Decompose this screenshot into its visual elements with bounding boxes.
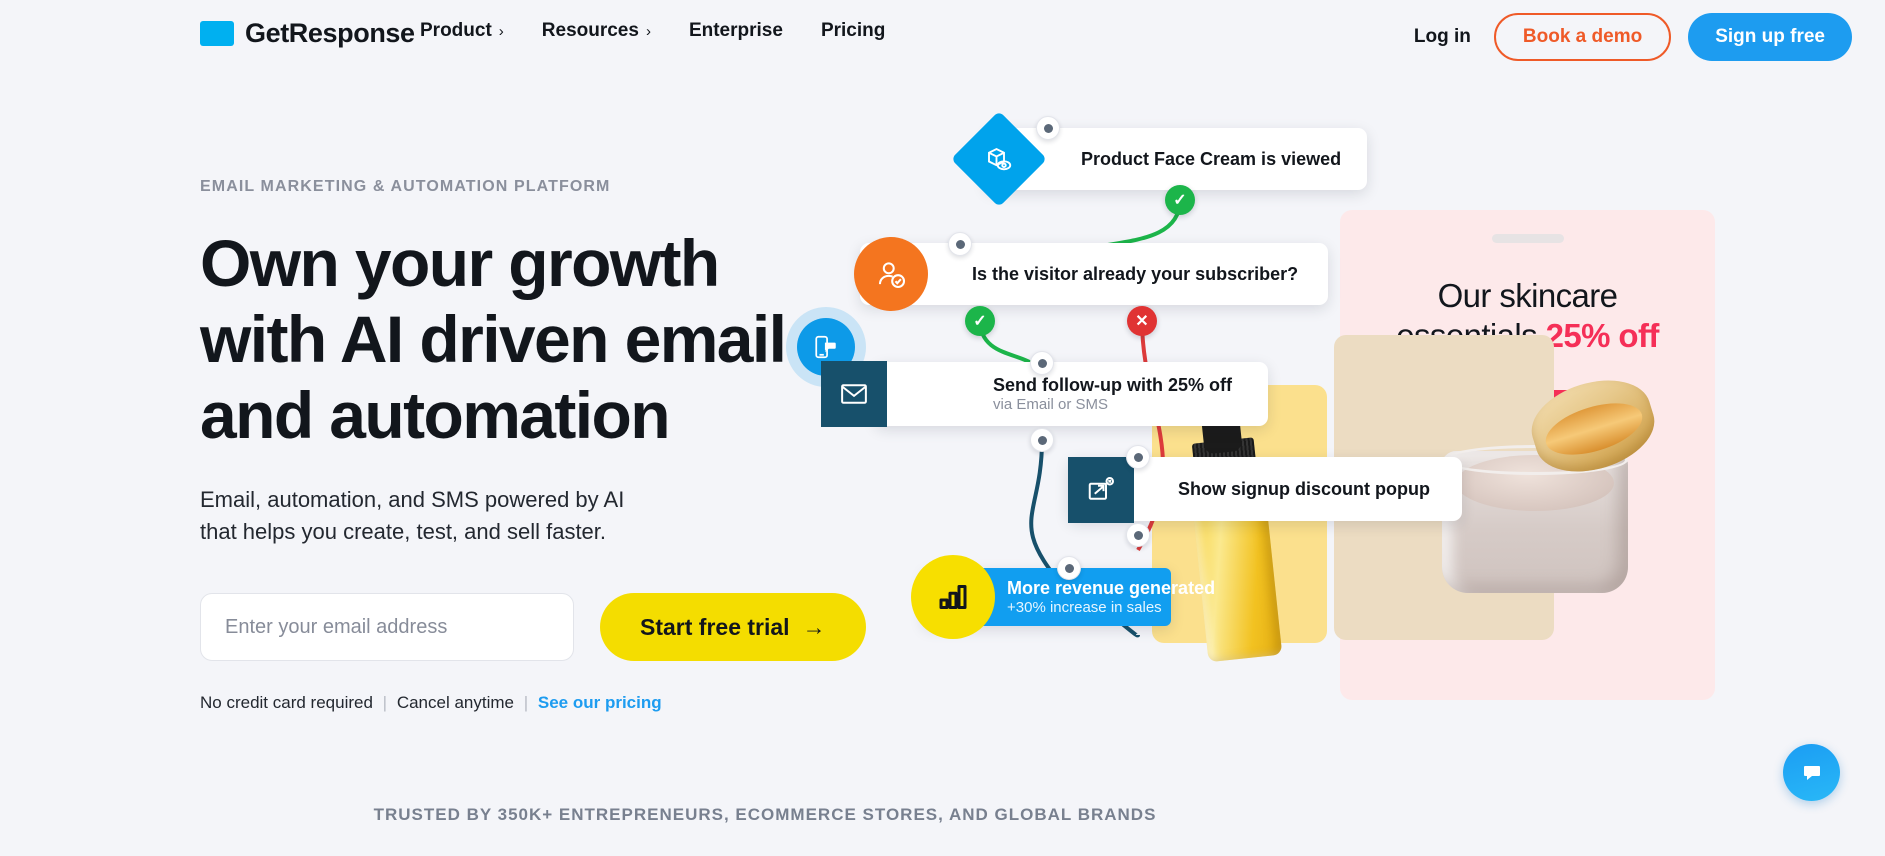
connector-dot-node3-top[interactable] [1030,351,1054,375]
flow-node-4-label: Show signup discount popup [1178,479,1430,500]
arrow-right-icon: → [803,614,826,641]
fineprint-no-card: No credit card required [200,693,373,712]
flow-node-2-label: Is the visitor already your subscriber? [972,264,1298,285]
connector-dot-node4-bottom[interactable] [1126,523,1150,547]
nav-item-enterprise[interactable]: Enterprise [689,20,783,42]
start-free-trial-button[interactable]: Start free trial → [600,593,866,661]
getresponse-envelope-icon [200,21,234,46]
see-our-pricing-link[interactable]: See our pricing [538,693,662,712]
hero-fineprint: No credit card required | Cancel anytime… [200,693,920,713]
status-no-node2[interactable]: ✕ [1127,306,1157,336]
nav-item-product[interactable]: Product › [420,20,504,42]
nav-label-enterprise: Enterprise [689,20,783,42]
flow-node-3-title: Send follow-up with 25% off [993,375,1232,396]
trial-button-label: Start free trial [640,614,790,641]
hero-eyebrow: EMAIL MARKETING & AUTOMATION PLATFORM [200,178,920,196]
chat-widget-button[interactable] [1783,744,1840,801]
status-yes-node1[interactable]: ✓ [1165,185,1195,215]
hero-cta-row: Start free trial → [200,593,920,661]
hero-illustration: Our skincare essentials 25% off SHOP NOW [930,80,1885,800]
email-input[interactable] [200,593,574,661]
connector-dot-node1-top[interactable] [1036,116,1060,140]
headline-line-1: Own your growth [200,226,719,300]
flow-node-show-popup[interactable]: Show signup discount popup [1068,457,1462,521]
connector-dot-revenue-top[interactable] [1057,556,1081,580]
chevron-right-icon: › [499,23,504,40]
revenue-badge-title: More revenue generated [1007,578,1171,599]
email-icon [821,361,887,427]
site-header: GetResponse Product › Resources › Enterp… [0,0,1885,75]
flow-node-send-followup[interactable]: Send follow-up with 25% off via Email or… [875,362,1268,426]
hero-copy: EMAIL MARKETING & AUTOMATION PLATFORM Ow… [200,178,920,713]
flow-node-is-subscriber[interactable]: Is the visitor already your subscriber? [860,243,1328,305]
hero-subheadline: Email, automation, and SMS powered by AI… [200,484,920,548]
trusted-by-text: TRUSTED BY 350K+ ENTREPRENEURS, ECOMMERC… [0,805,1530,825]
landing-page: GetResponse Product › Resources › Enterp… [0,0,1885,856]
fineprint-cancel: Cancel anytime [397,693,514,712]
nav-label-product: Product [420,20,492,42]
promo-discount: 25% off [1546,317,1659,354]
book-demo-button[interactable]: Book a demo [1494,13,1671,61]
connector-dot-node4-top[interactable] [1126,445,1150,469]
promo-title-line1: Our skincare [1438,277,1618,314]
status-yes-node2[interactable]: ✓ [965,306,995,336]
brand-name: GetResponse [245,18,415,49]
nav-label-resources: Resources [542,20,639,42]
login-link[interactable]: Log in [1414,26,1471,48]
subhead-line-1: Email, automation, and SMS powered by AI [200,487,624,512]
revenue-badge: More revenue generated +30% increase in … [923,568,1171,626]
connector-dot-node3-bottom[interactable] [1030,428,1054,452]
bar-chart-icon [911,555,995,639]
popup-icon [1068,457,1134,523]
fineprint-separator-1: | [383,693,387,712]
main-navigation: Product › Resources › Enterprise Pricing [420,20,885,42]
headline-line-2: with AI driven email [200,302,785,376]
chat-bubble-icon [1800,761,1824,785]
nav-label-pricing: Pricing [821,20,885,42]
nav-item-resources[interactable]: Resources › [542,20,651,42]
subhead-line-2: that helps you create, test, and sell fa… [200,519,606,544]
connector-dot-node2-top[interactable] [948,232,972,256]
fineprint-separator-2: | [524,693,528,712]
product-view-icon [951,111,1047,207]
headline-line-3: and automation [200,378,669,452]
header-actions: Log in Book a demo Sign up free [1414,13,1852,61]
flow-node-3-subtitle: via Email or SMS [993,396,1108,413]
promo-card-notch [1492,234,1564,243]
cream-jar-image [1436,383,1646,598]
nav-item-pricing[interactable]: Pricing [821,20,885,42]
flow-node-1-label: Product Face Cream is viewed [1081,149,1341,170]
sign-up-free-button[interactable]: Sign up free [1688,13,1852,61]
revenue-badge-subtitle: +30% increase in sales [1007,599,1171,616]
brand-logo[interactable]: GetResponse [200,18,415,49]
chevron-right-icon: › [646,23,651,40]
subscriber-check-icon [854,237,928,311]
